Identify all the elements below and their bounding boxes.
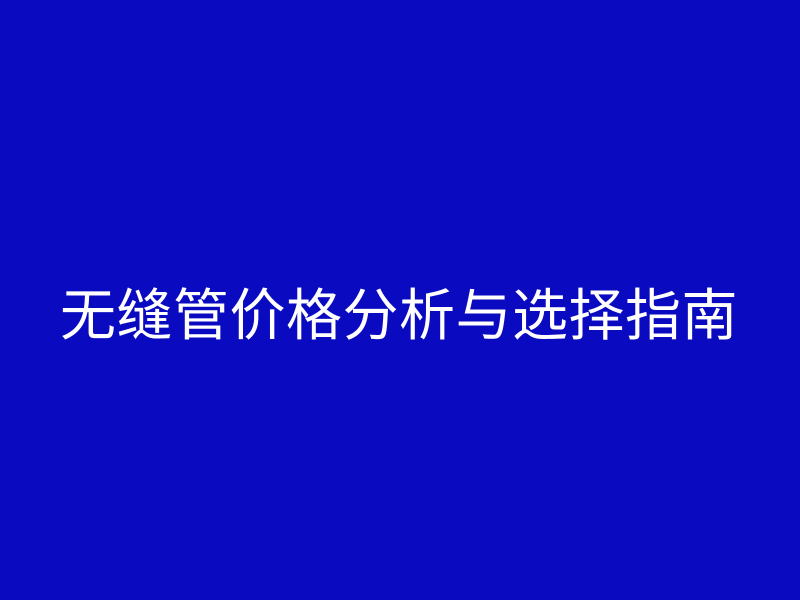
presentation-slide: 无缝管价格分析与选择指南	[0, 0, 800, 600]
title-block: 无缝管价格分析与选择指南	[0, 0, 800, 600]
slide-title: 无缝管价格分析与选择指南	[60, 288, 738, 347]
